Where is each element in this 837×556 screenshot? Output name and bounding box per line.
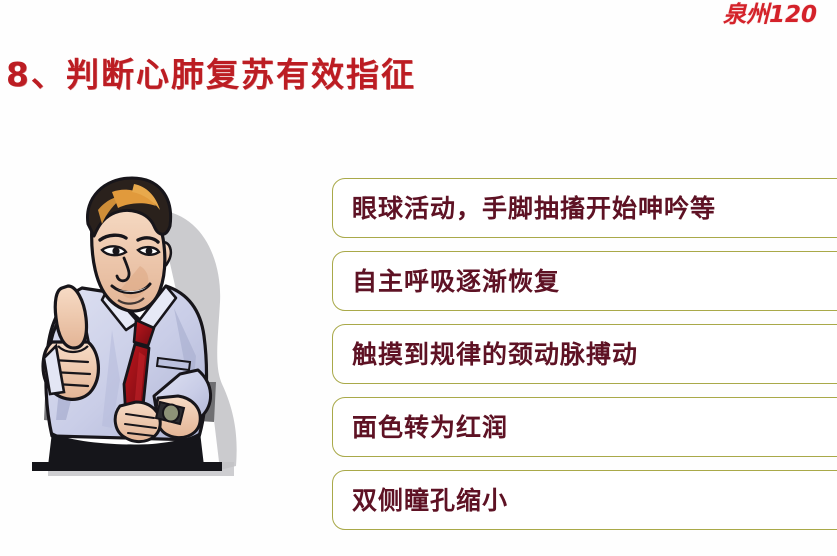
page-title: 8、判断心肺复苏有效指征 bbox=[6, 48, 416, 96]
list-item-label: 双侧瞳孔缩小 bbox=[352, 488, 508, 513]
list-item[interactable]: 自主呼吸逐渐恢复 bbox=[332, 251, 837, 311]
man-thumbs-up-illustration bbox=[8, 170, 278, 520]
slide-canvas: 泉州120 8、判断心肺复苏有效指征 bbox=[0, 0, 837, 556]
list-item-label: 眼球活动，手脚抽搐开始呻吟等 bbox=[352, 196, 716, 221]
list-item-label: 面色转为红润 bbox=[352, 415, 508, 440]
list-item[interactable]: 眼球活动，手脚抽搐开始呻吟等 bbox=[332, 178, 837, 238]
list-item-label: 触摸到规律的颈动脉搏动 bbox=[352, 342, 638, 367]
list-item[interactable]: 面色转为红润 bbox=[332, 397, 837, 457]
list-item[interactable]: 双侧瞳孔缩小 bbox=[332, 470, 837, 530]
quanzhou-120-logo: 泉州120 bbox=[723, 4, 817, 27]
list-item[interactable]: 触摸到规律的颈动脉搏动 bbox=[332, 324, 837, 384]
list-item-label: 自主呼吸逐渐恢复 bbox=[352, 269, 560, 294]
indicator-list: 眼球活动，手脚抽搐开始呻吟等 自主呼吸逐渐恢复 触摸到规律的颈动脉搏动 面色转为… bbox=[332, 178, 837, 543]
